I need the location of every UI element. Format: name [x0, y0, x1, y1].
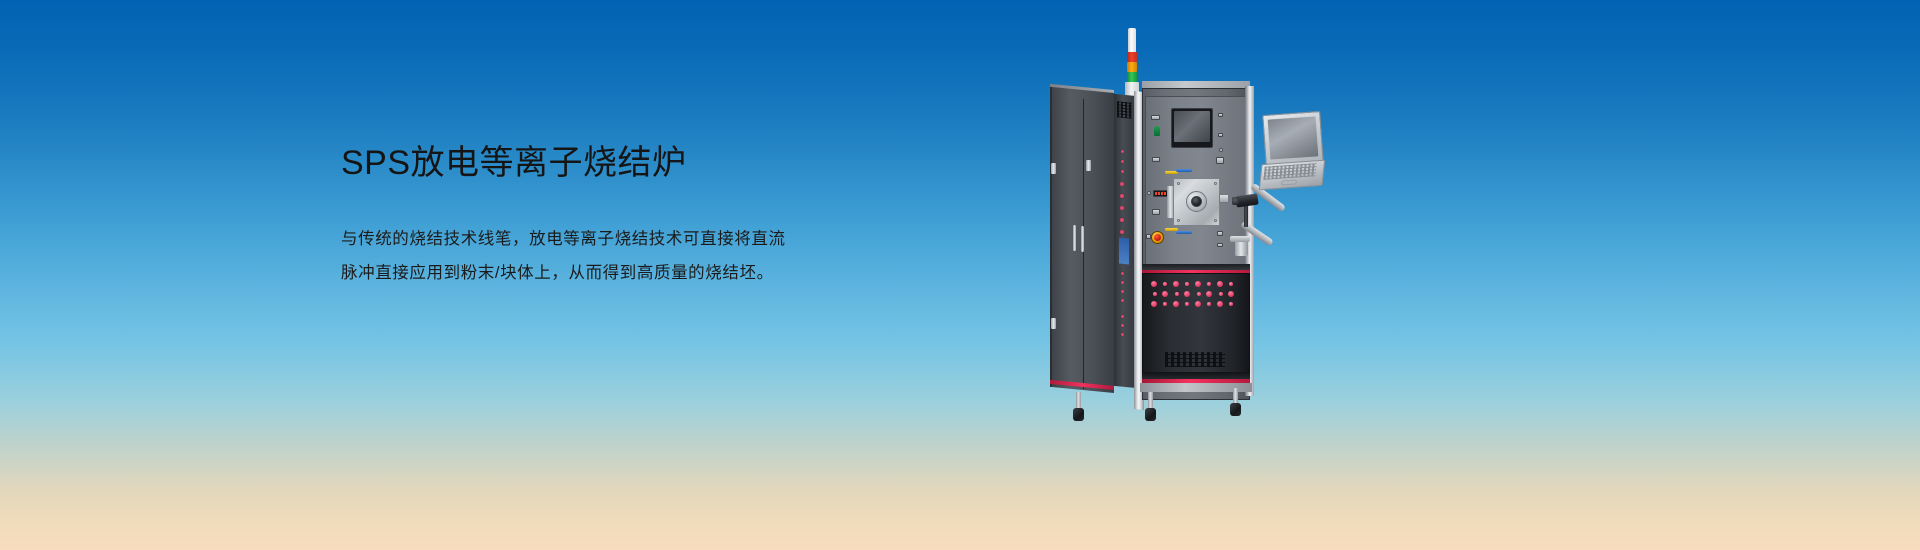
coolant-tube-lower: [1176, 231, 1192, 234]
page-title: SPS放电等离子烧结炉: [341, 143, 901, 184]
chamber-viewport-glass: [1191, 196, 1202, 207]
arm-clamp: [1230, 236, 1250, 242]
status-dot: [1151, 281, 1157, 287]
status-dot: [1229, 282, 1233, 286]
description-line-2: 脉冲直接应用到粉末/块体上，从而得到高质量的烧结坯。: [341, 256, 841, 290]
left-cabinet-hinge-mid: [1086, 160, 1091, 171]
status-dot: [1162, 291, 1168, 297]
lower-vent-grille: [1165, 352, 1225, 367]
panel-switch-c: [1152, 157, 1160, 162]
banner-description: 与传统的烧结技术线笔，放电等离子烧结技术可直接将直流 脉冲直接应用到粉末/块体上…: [341, 222, 841, 290]
bay-indicator-dot: [1120, 230, 1124, 234]
camera-stalk: [1244, 205, 1248, 227]
left-cabinet-handle-a: [1073, 225, 1076, 251]
status-dot: [1185, 282, 1189, 286]
status-dot: [1151, 301, 1157, 307]
hero-banner: SPS放电等离子烧结炉 与传统的烧结技术线笔，放电等离子烧结技术可直接将直流 脉…: [0, 0, 1920, 550]
left-cabinet-handle-b: [1081, 226, 1084, 252]
status-dot: [1229, 302, 1233, 306]
status-dot: [1163, 282, 1167, 286]
bay-indicator-dot: [1120, 182, 1124, 186]
status-dot: [1206, 291, 1212, 297]
status-dot: [1173, 301, 1179, 307]
banner-text-block: SPS放电等离子烧结炉 与传统的烧结技术线笔，放电等离子烧结技术可直接将直流 脉…: [341, 143, 901, 290]
bay-vent-grille: [1117, 101, 1132, 118]
bay-indicator-dot: [1121, 299, 1124, 302]
chamber-bolt: [1177, 219, 1180, 222]
left-cabinet-hinge-lower: [1051, 318, 1056, 329]
sps-furnace-illustration: [1020, 0, 1440, 550]
description-line-1: 与传统的烧结技术线笔，放电等离子烧结技术可直接将直流: [341, 222, 841, 256]
status-dot: [1228, 291, 1234, 297]
panel-switch-b: [1218, 133, 1223, 137]
chamber-bolt: [1214, 182, 1217, 185]
status-dot: [1219, 292, 1223, 296]
status-dot: [1195, 281, 1201, 287]
camera-lens-icon: [1232, 197, 1239, 205]
status-dot: [1173, 281, 1179, 287]
status-dot: [1163, 302, 1167, 306]
status-dot: [1197, 292, 1201, 296]
status-dot: [1184, 291, 1190, 297]
status-dot: [1217, 281, 1223, 287]
status-dot: [1185, 302, 1189, 306]
chamber-bolt: [1177, 182, 1180, 185]
chamber-door-latch[interactable]: [1219, 194, 1229, 203]
signal-lamp-amber-icon: [1127, 62, 1137, 72]
status-dot: [1207, 302, 1211, 306]
control-laptop-display: [1268, 116, 1319, 159]
panel-switch-f: [1217, 243, 1223, 247]
bay-label-plate: [1119, 238, 1129, 265]
bay-indicator-dot: [1120, 206, 1124, 210]
coolant-tube-upper: [1176, 169, 1192, 172]
hmi-display: [1174, 111, 1210, 142]
bay-indicator-dot: [1121, 290, 1124, 293]
bay-indicator-dot: [1121, 272, 1124, 275]
chamber-bolt: [1214, 219, 1217, 222]
status-dot: [1153, 292, 1157, 296]
caster-wheel-front: [1145, 408, 1156, 421]
status-dot: [1195, 301, 1201, 307]
panel-button-square: [1216, 157, 1224, 164]
bay-indicator-dot: [1120, 194, 1124, 198]
lower-cabinet-panel: [1142, 273, 1250, 388]
panel-led-a: [1219, 148, 1223, 152]
bay-indicator-dot: [1121, 315, 1124, 318]
bay-indicator-dot: [1121, 170, 1124, 173]
bay-indicator-dot: [1121, 150, 1124, 153]
status-dot: [1207, 282, 1211, 286]
panel-switch-e: [1217, 231, 1223, 236]
panel-led-b: [1147, 191, 1151, 195]
caster-wheel-right: [1230, 403, 1241, 416]
signal-lamp-red-icon: [1127, 52, 1137, 62]
bay-indicator-dot: [1121, 281, 1124, 284]
emergency-stop-inner[interactable]: [1154, 234, 1161, 241]
base-dark-band: [1142, 372, 1250, 379]
panel-switch-power: [1151, 115, 1160, 120]
status-dot: [1217, 301, 1223, 307]
caster-wheel-left: [1073, 408, 1084, 421]
signal-lamp-green-icon: [1127, 72, 1137, 82]
bay-indicator-dot: [1121, 160, 1124, 163]
panel-switch-a: [1218, 113, 1223, 117]
bay-indicator-dot: [1120, 218, 1124, 222]
left-cabinet-hinge-upper: [1051, 163, 1056, 174]
bay-indicator-dot: [1121, 324, 1124, 327]
panel-switch-d: [1152, 209, 1160, 215]
panel-selector-knob: [1154, 126, 1160, 136]
bay-indicator-dot: [1121, 333, 1124, 336]
status-dot: [1175, 292, 1179, 296]
